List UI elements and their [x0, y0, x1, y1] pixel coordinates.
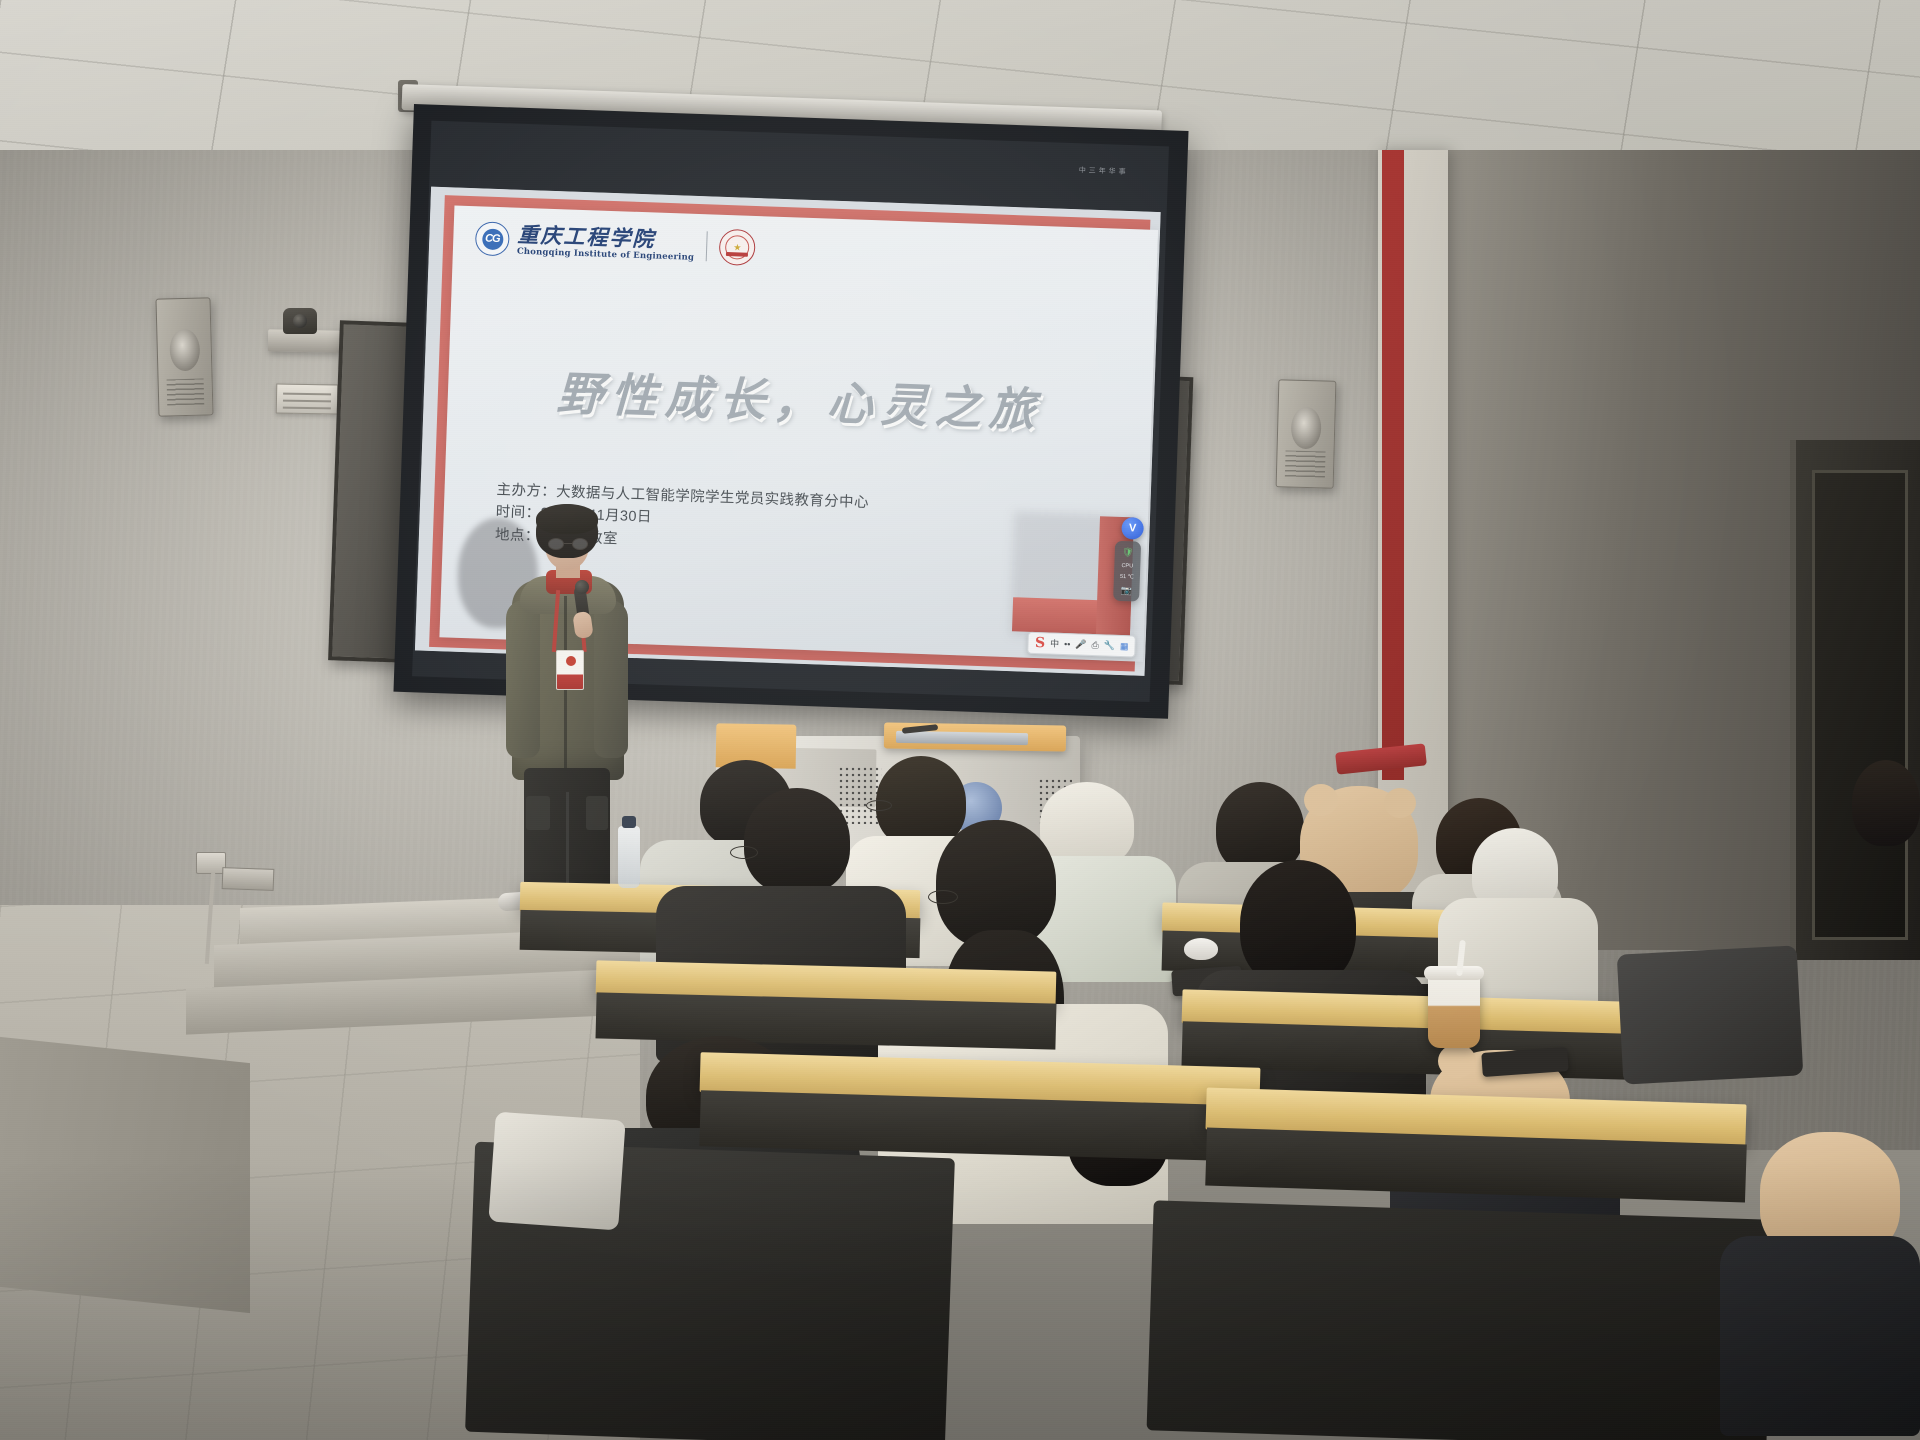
shield-icon[interactable]: 🛡	[1122, 547, 1134, 558]
party-emblem-icon: ★	[719, 229, 756, 266]
baseboard	[0, 1037, 250, 1313]
camera-lens-icon	[293, 314, 307, 328]
audience-head	[1852, 760, 1920, 846]
presenter-id-badge	[556, 650, 584, 690]
microphone-head-icon	[575, 580, 589, 594]
university-name-cn: 重庆工程学院	[517, 223, 695, 250]
sogou-ime-toolbar[interactable]: S 中 •• 🎤 ⎙ 🔧 ▦	[1028, 632, 1136, 658]
wall-speaker-left	[155, 297, 213, 416]
audience-head	[936, 820, 1056, 948]
cpu-label: CPU	[1121, 563, 1133, 569]
projector-device-label: 中 三 年 华 事	[1079, 165, 1127, 177]
wall-plate-line	[283, 400, 331, 402]
glasses-icon	[730, 846, 758, 859]
cargo-pocket-right	[586, 796, 608, 830]
glasses-icon	[548, 538, 588, 550]
presenter-arm-right	[594, 600, 628, 758]
cpu-temperature: 51 ℃	[1120, 574, 1134, 581]
tote-bag	[488, 1112, 625, 1231]
speaker-grille	[1285, 450, 1326, 477]
punctuation-icon[interactable]: ••	[1064, 640, 1071, 649]
water-bottle	[618, 826, 640, 888]
screenshot-icon[interactable]: 📷	[1121, 585, 1133, 596]
university-emblem-icon: CG	[475, 221, 510, 256]
branding-divider	[706, 231, 708, 261]
toolbox-icon[interactable]: 🔧	[1104, 641, 1116, 650]
audience-head	[1040, 782, 1134, 866]
speaker-cone-icon	[169, 329, 200, 372]
speaker-cone-icon	[1291, 406, 1322, 449]
presenter-arm-left	[506, 600, 540, 758]
lecture-hall-photo: 中 三 年 华 事 CG 重庆工程学院 Chongqing Institute …	[0, 0, 1920, 1440]
bottle-cap	[622, 816, 636, 828]
glasses-icon	[866, 800, 892, 811]
bear-ear-left-icon	[1304, 784, 1338, 816]
bear-ear-left-icon	[1438, 1044, 1476, 1078]
glasses-bridge	[564, 543, 572, 544]
red-wall-stripe	[1382, 150, 1404, 780]
app-floating-badge[interactable]: V	[1121, 517, 1144, 540]
glasses-lens-left	[548, 538, 564, 550]
voice-input-icon[interactable]: 🎤	[1075, 640, 1087, 649]
cup-lid	[1424, 966, 1484, 980]
seat-back-front-right	[1147, 1200, 1774, 1440]
lang-toggle-icon[interactable]: 中	[1050, 639, 1059, 648]
badge-emblem-icon	[566, 656, 576, 666]
audience-head	[744, 788, 850, 894]
presenter-pants	[524, 768, 610, 900]
slide-branding-header: CG 重庆工程学院 Chongqing Institute of Enginee…	[475, 220, 756, 266]
glasses-lens-right	[572, 538, 588, 550]
apps-icon[interactable]: ▦	[1120, 641, 1129, 650]
slide-title: 野性成长，心灵之旅	[447, 353, 1153, 444]
cargo-pocket-left	[526, 796, 550, 830]
university-wordmark: 重庆工程学院 Chongqing Institute of Engineerin…	[517, 223, 695, 262]
presenter-fringe	[536, 504, 598, 534]
sogou-logo-icon[interactable]: S	[1035, 636, 1046, 650]
wall-plate-line	[283, 407, 331, 409]
system-monitor-widget[interactable]: 🛡 CPU 51 ℃ 📷	[1113, 541, 1141, 602]
podium-monitor[interactable]	[896, 731, 1028, 745]
bear-ear-right-icon	[1384, 788, 1416, 818]
wireless-mouse	[1184, 938, 1218, 960]
presenter	[498, 500, 638, 930]
speaker-grille	[167, 379, 205, 406]
wall-plate-line	[283, 393, 331, 395]
backpack	[1617, 945, 1804, 1084]
door-panel[interactable]	[1812, 470, 1908, 940]
audience-head	[1240, 860, 1356, 988]
wall-junction-box	[222, 867, 275, 891]
keyboard-icon[interactable]: ⎙	[1091, 640, 1099, 649]
wall-speaker-right	[1276, 379, 1337, 488]
audience-body	[1720, 1236, 1920, 1436]
glasses-icon	[928, 890, 958, 904]
milk-tea-cup	[1428, 974, 1480, 1048]
party-emblem-band	[726, 252, 748, 257]
wall-plate	[276, 383, 339, 414]
emblem-monogram: CG	[485, 233, 500, 245]
